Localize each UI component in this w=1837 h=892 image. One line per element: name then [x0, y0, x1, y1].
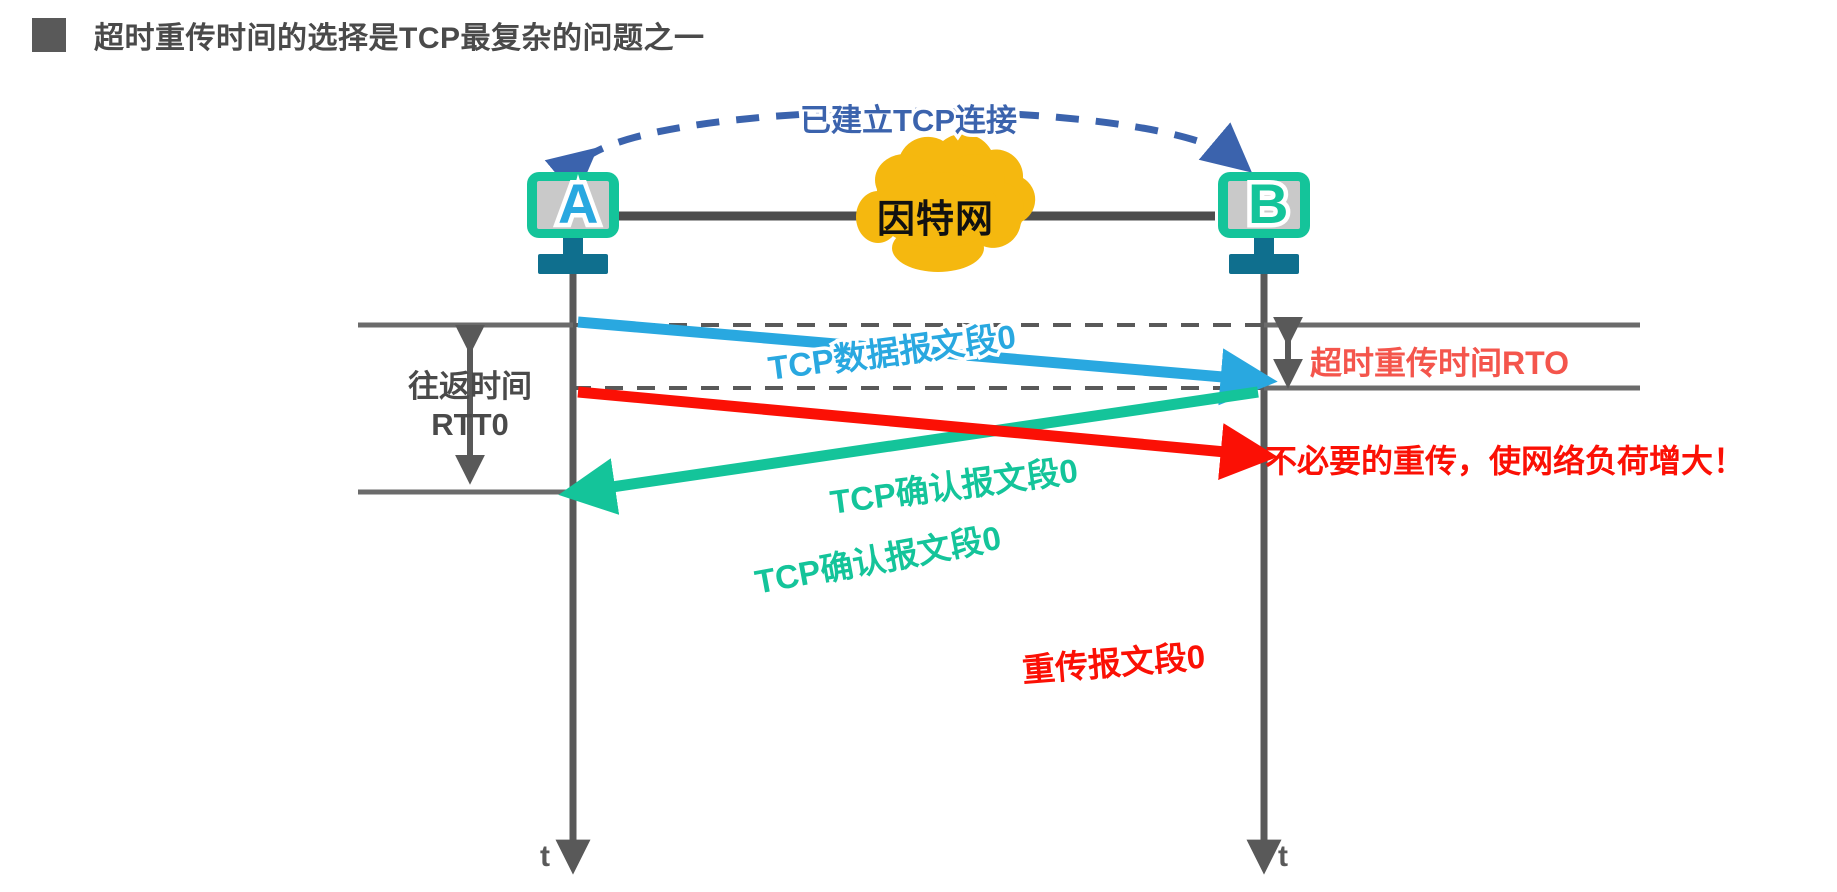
host-a-letter-fill: A [558, 172, 598, 235]
slide-canvas: 超时重传时间的选择是TCP最复杂的问题之一 [0, 0, 1837, 892]
host-b-letter-fill: B [1248, 172, 1288, 235]
internet-cloud-icon [856, 134, 1035, 272]
tcp-timeout-diagram [0, 0, 1837, 892]
host-a-letter: A A [558, 176, 598, 232]
host-b-letter: B B [1248, 176, 1288, 232]
data-segment-arrow [578, 322, 1258, 380]
